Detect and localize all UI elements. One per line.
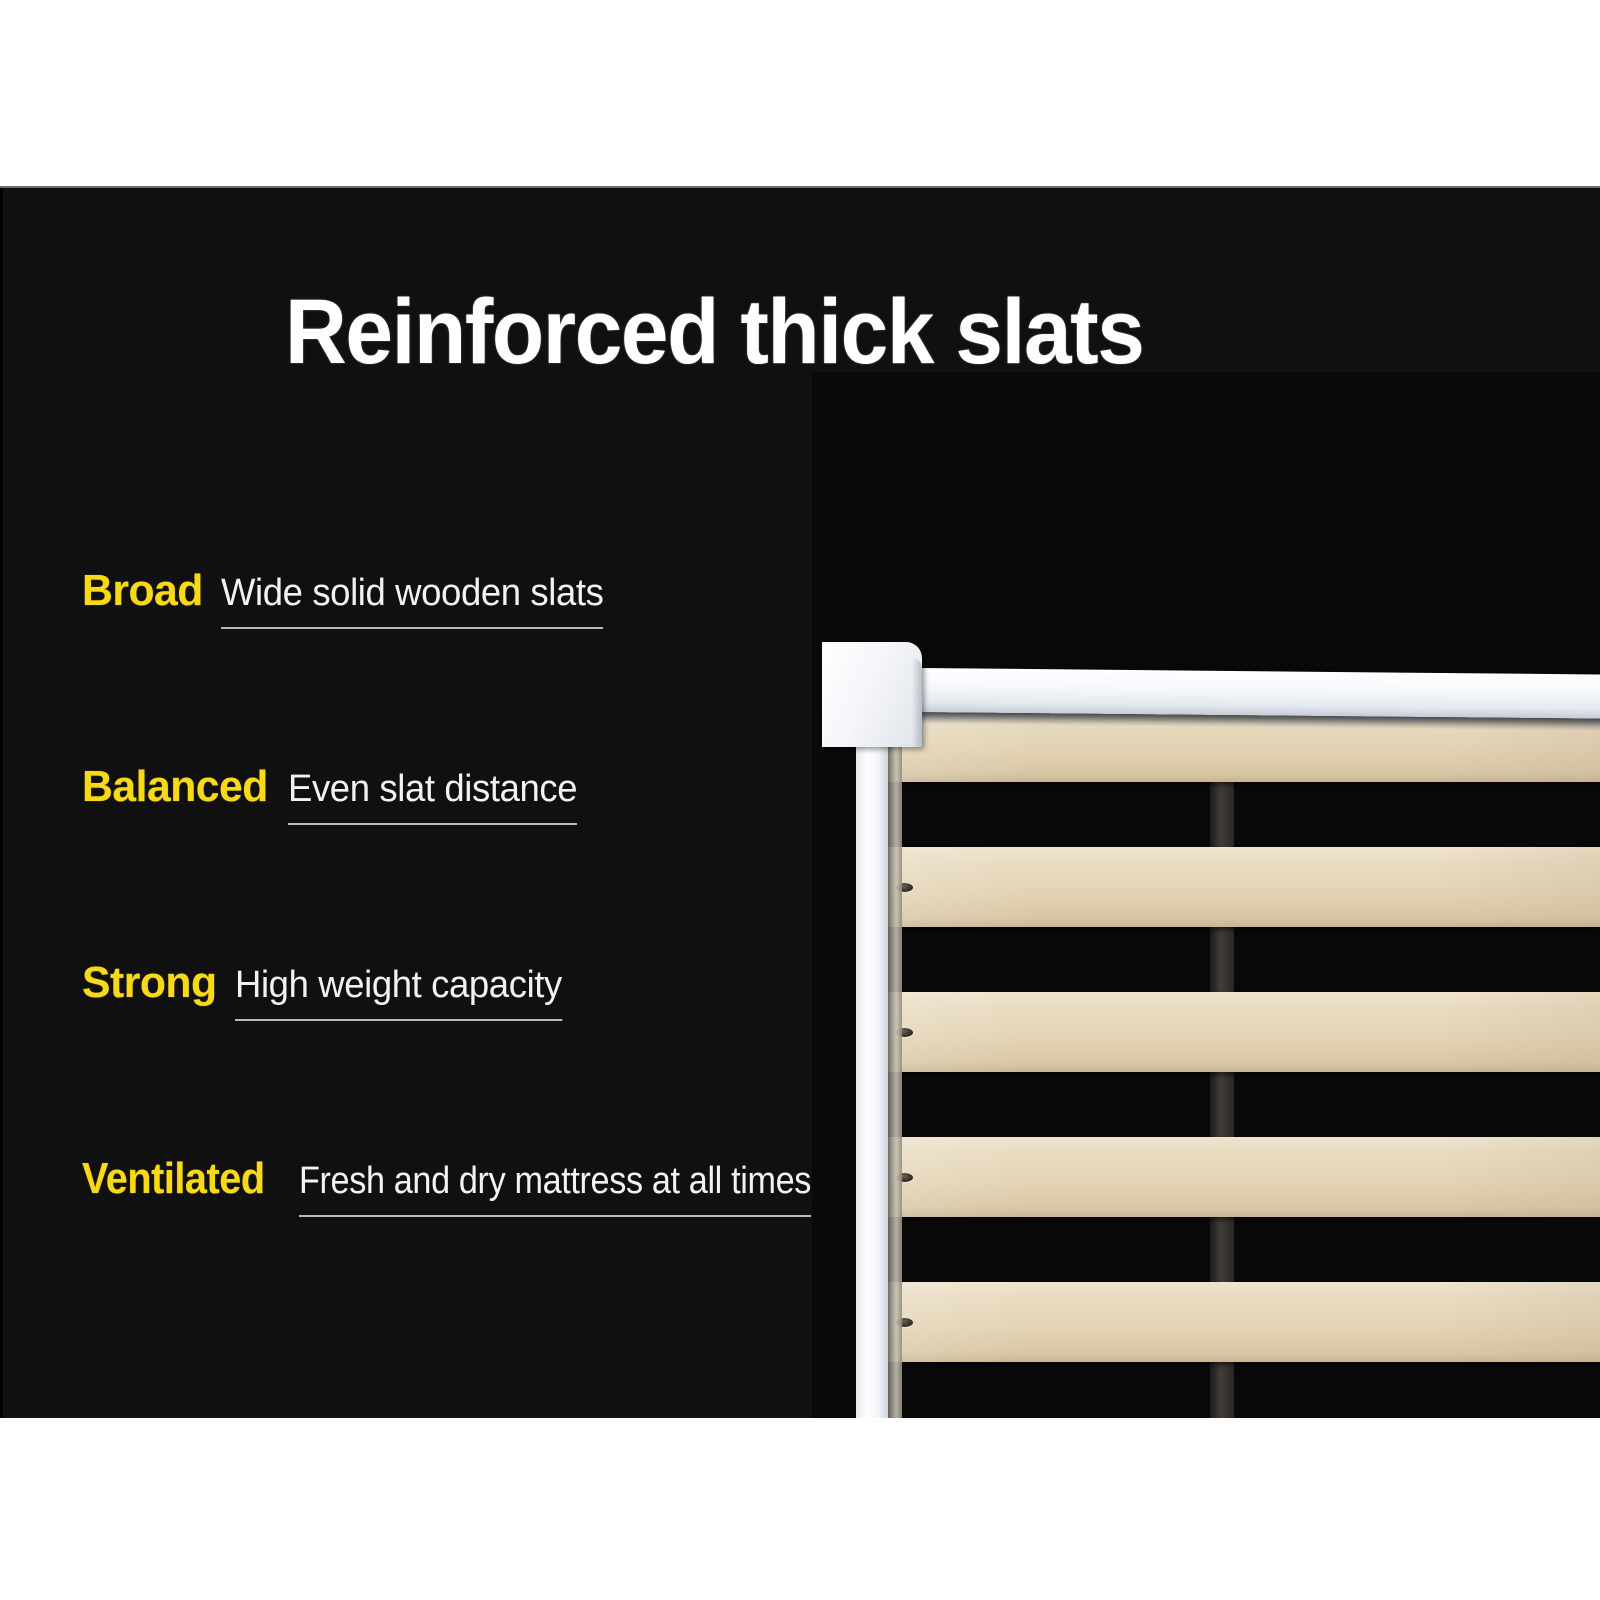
feature-description: Even slat distance bbox=[288, 768, 577, 825]
wood-grain bbox=[874, 1282, 1600, 1362]
bed-slat bbox=[874, 992, 1600, 1072]
wood-grain bbox=[874, 847, 1600, 927]
feature-key: Strong bbox=[82, 958, 217, 1008]
marketing-image: Reinforced thick slats Broad Wide solid … bbox=[0, 0, 1600, 1600]
feature-row: Balanced Even slat distance bbox=[82, 762, 842, 958]
wood-grain bbox=[874, 1137, 1600, 1217]
feature-key: Ventilated bbox=[82, 1154, 265, 1204]
page-title: Reinforced thick slats bbox=[285, 286, 1143, 378]
feature-row: Broad Wide solid wooden slats bbox=[82, 566, 842, 762]
feature-description: Fresh and dry mattress at all times bbox=[299, 1160, 811, 1217]
feature-description: High weight capacity bbox=[235, 964, 562, 1021]
frame-corner-post-cap bbox=[822, 642, 922, 747]
bed-slat bbox=[874, 847, 1600, 927]
wood-grain bbox=[874, 992, 1600, 1072]
feature-panel: Reinforced thick slats Broad Wide solid … bbox=[0, 186, 1600, 1418]
panel-left-seam bbox=[0, 186, 3, 1418]
feature-key: Balanced bbox=[82, 762, 268, 812]
feature-row: Ventilated Fresh and dry mattress at all… bbox=[82, 1154, 842, 1350]
feature-list: Broad Wide solid wooden slats Balanced E… bbox=[82, 566, 842, 1350]
frame-vertical-leg bbox=[856, 742, 888, 1418]
product-photo bbox=[812, 372, 1600, 1418]
frame-top-rail bbox=[920, 668, 1600, 719]
frame-side-rail bbox=[888, 742, 902, 1418]
feature-description: Wide solid wooden slats bbox=[221, 572, 604, 629]
feature-key: Broad bbox=[82, 566, 203, 616]
bed-slat bbox=[874, 1137, 1600, 1217]
bed-slat bbox=[874, 1282, 1600, 1362]
feature-row: Strong High weight capacity bbox=[82, 958, 842, 1154]
